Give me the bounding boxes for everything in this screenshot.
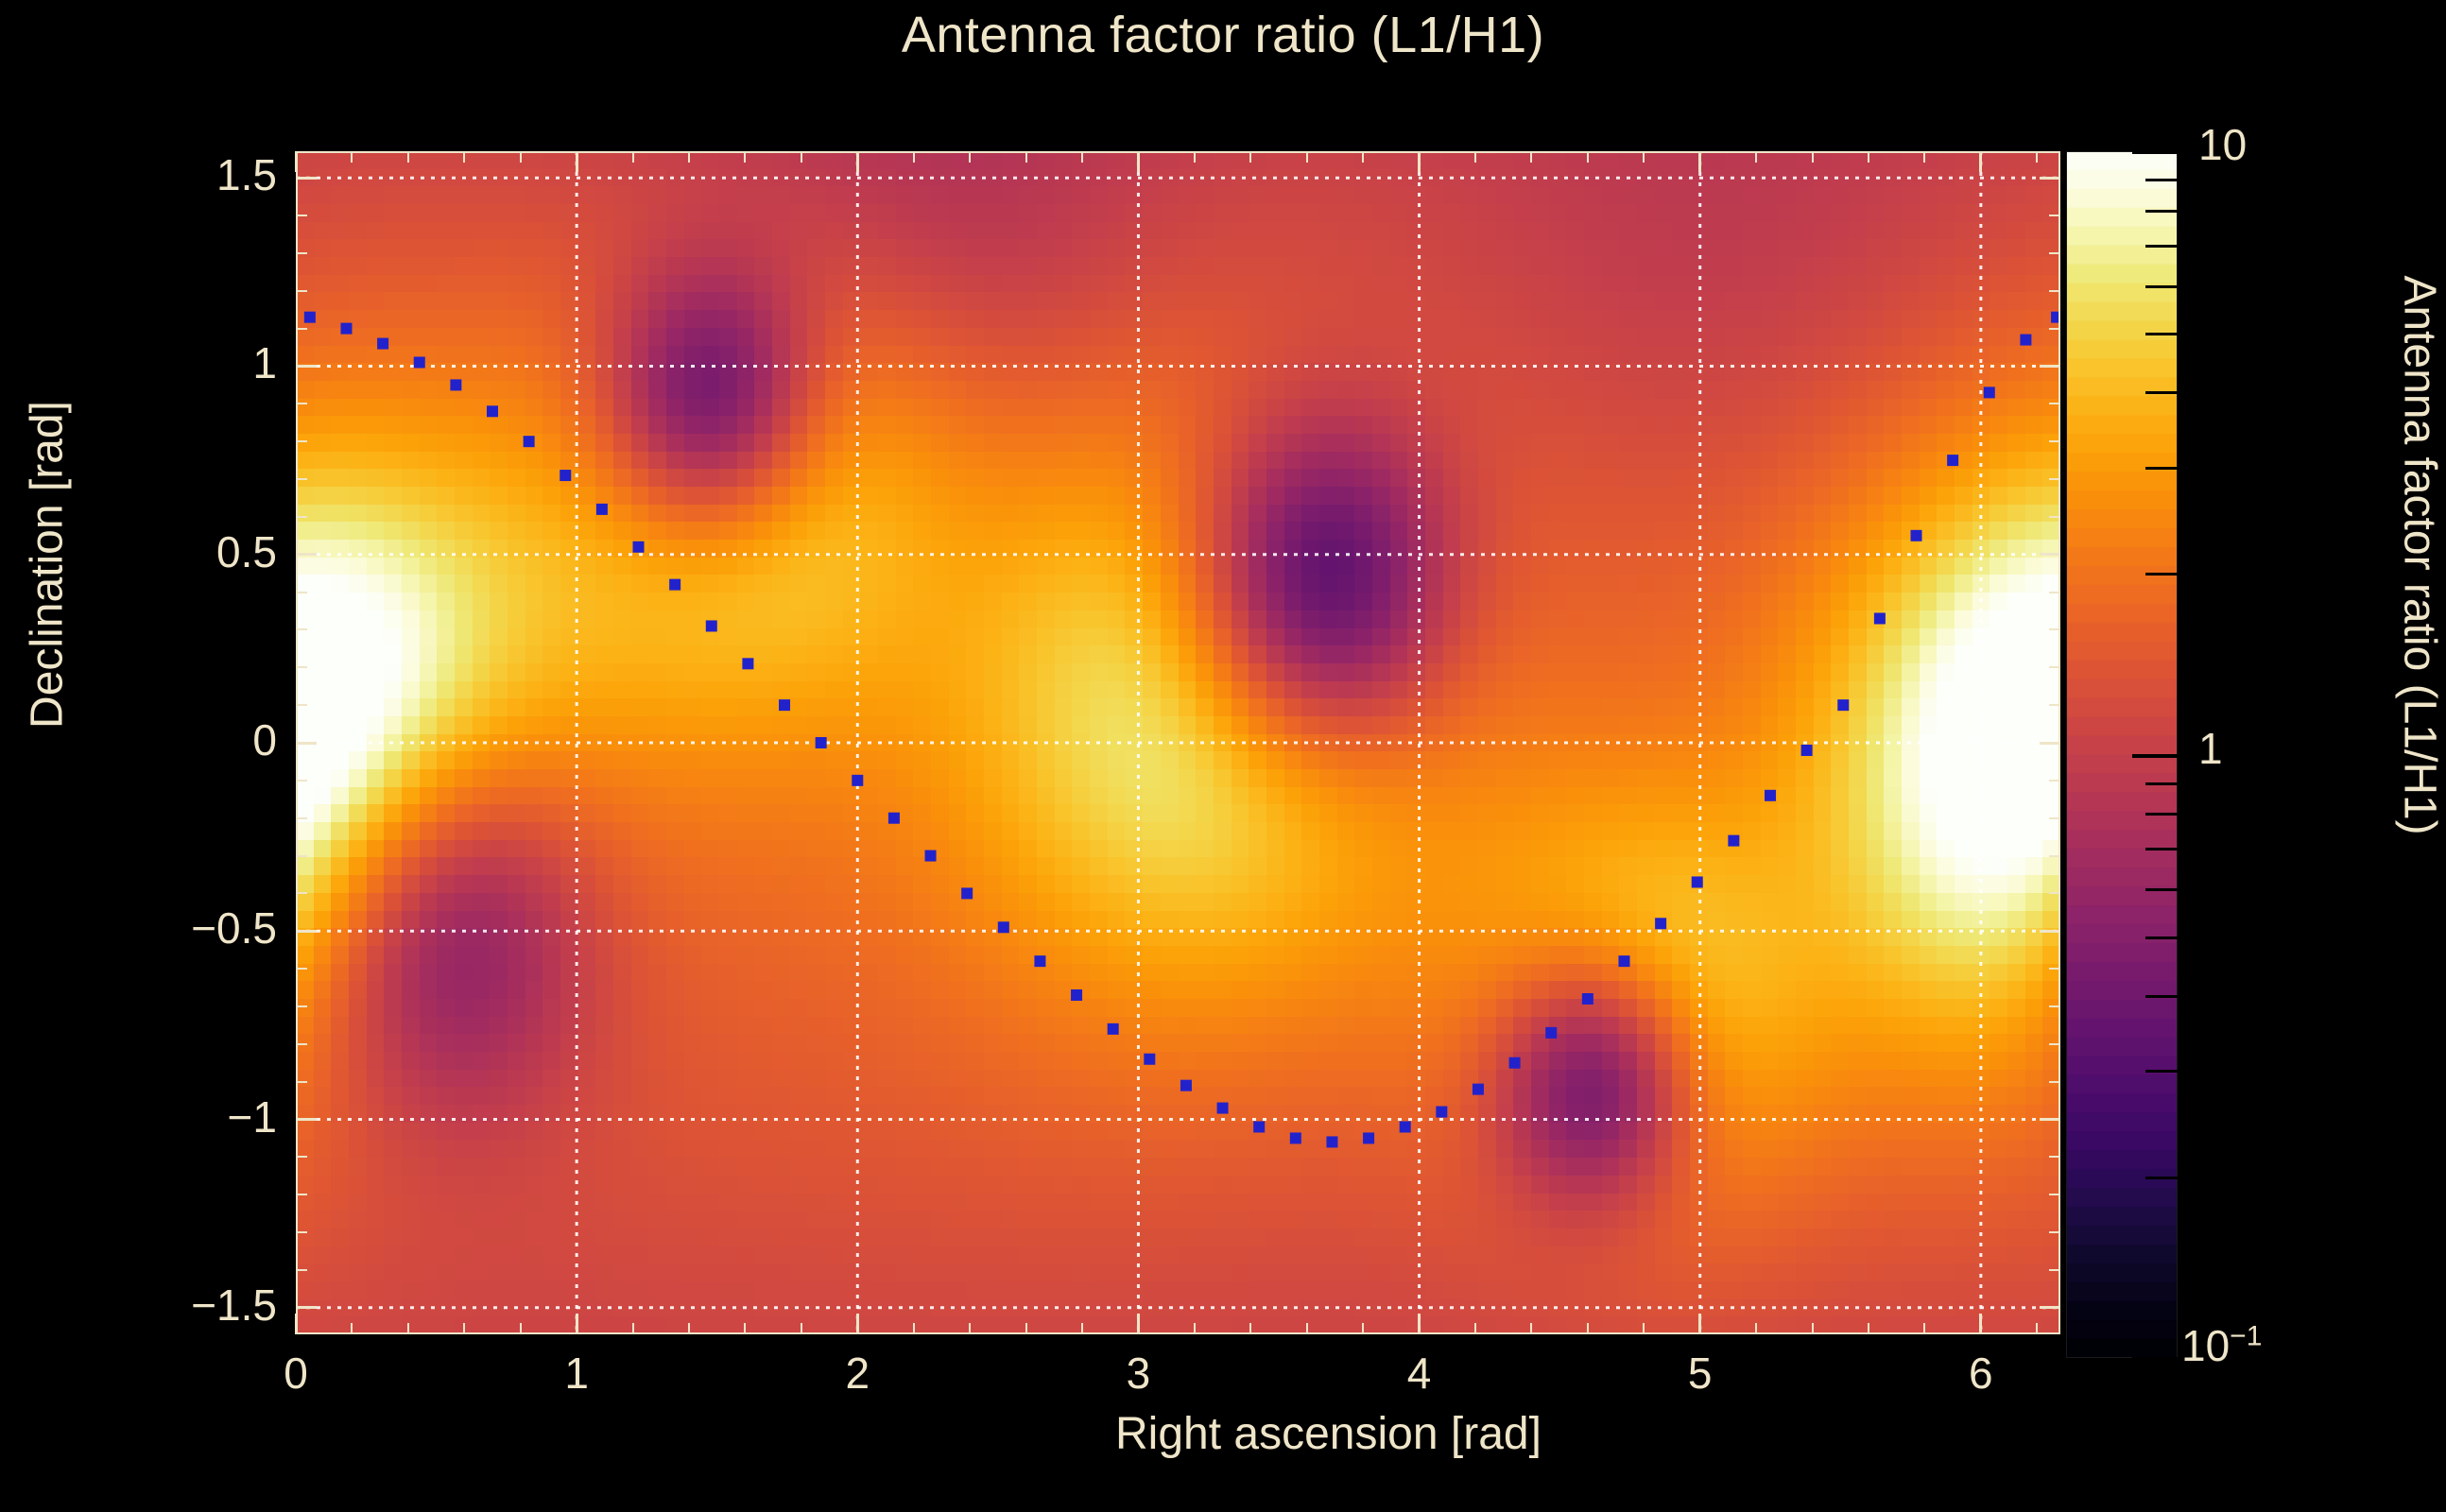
y-minor-tick xyxy=(296,628,307,630)
x-major-tick xyxy=(576,1314,578,1334)
x-minor-tick-top xyxy=(1587,151,1589,163)
colorbar-minor-tick xyxy=(2145,391,2178,394)
x-tick-label: 3 xyxy=(1081,1348,1195,1399)
x-tick-label: 1 xyxy=(520,1348,633,1399)
y-minor-tick-right xyxy=(2049,1081,2060,1083)
x-minor-tick-top xyxy=(688,151,690,163)
x-minor-tick-top xyxy=(1194,151,1196,163)
y-minor-tick xyxy=(296,892,307,894)
x-minor-tick xyxy=(969,1323,971,1334)
y-minor-tick-right xyxy=(2049,704,2060,706)
x-tick-label: 4 xyxy=(1363,1348,1476,1399)
chart-root: Antenna factor ratio (L1/H1) 01234561.51… xyxy=(0,0,2446,1512)
x-minor-tick xyxy=(1081,1323,1083,1334)
y-major-tick-right xyxy=(2040,1118,2060,1121)
y-minor-tick xyxy=(296,1194,307,1195)
x-minor-tick-top xyxy=(520,151,522,163)
y-minor-tick-right xyxy=(2049,1005,2060,1007)
x-minor-tick xyxy=(1474,1323,1476,1334)
colorbar-minor-tick xyxy=(2145,333,2178,335)
y-minor-tick xyxy=(296,1269,307,1271)
x-minor-tick-top xyxy=(1643,151,1645,163)
y-tick-label: −1.5 xyxy=(12,1280,277,1331)
y-minor-tick-right xyxy=(2049,1043,2060,1045)
y-tick-label: −0.5 xyxy=(12,902,277,954)
x-minor-tick xyxy=(744,1323,746,1334)
y-major-tick xyxy=(296,742,317,745)
y-minor-tick-right xyxy=(2049,592,2060,593)
y-minor-tick xyxy=(296,968,307,970)
x-minor-tick-top xyxy=(801,151,802,163)
x-minor-tick-top xyxy=(1923,151,1925,163)
y-minor-tick-right xyxy=(2049,892,2060,894)
colorbar-major-tick xyxy=(2132,150,2178,154)
x-minor-tick xyxy=(1923,1323,1925,1334)
heatmap-plot-area[interactable] xyxy=(296,151,2060,1334)
colorbar-tick-label-mid: 1 xyxy=(2198,723,2223,774)
x-minor-tick xyxy=(520,1323,522,1334)
x-minor-tick xyxy=(407,1323,409,1334)
x-minor-tick-top xyxy=(632,151,634,163)
x-minor-tick-top xyxy=(351,151,353,163)
colorbar-minor-tick xyxy=(2145,813,2178,816)
colorbar-minor-tick xyxy=(2145,285,2178,288)
y-minor-tick xyxy=(296,516,307,518)
colorbar-minor-tick xyxy=(2145,888,2178,891)
y-minor-tick xyxy=(296,1005,307,1007)
y-minor-tick xyxy=(296,328,307,330)
y-minor-tick xyxy=(296,855,307,857)
x-tick-label: 0 xyxy=(239,1348,353,1399)
x-minor-tick xyxy=(1362,1323,1364,1334)
y-minor-tick-right xyxy=(2049,252,2060,254)
x-minor-tick xyxy=(1755,1323,1757,1334)
y-minor-tick-right xyxy=(2049,290,2060,292)
galactic-plane-overlay xyxy=(296,151,2060,1334)
y-minor-tick xyxy=(296,1156,307,1158)
x-minor-tick xyxy=(1643,1323,1645,1334)
y-minor-tick xyxy=(296,592,307,593)
x-minor-tick-top xyxy=(463,151,465,163)
x-minor-tick-top xyxy=(1362,151,1364,163)
y-major-tick-right xyxy=(2040,1306,2060,1309)
y-major-tick-right xyxy=(2040,365,2060,368)
x-minor-tick-top xyxy=(1025,151,1027,163)
y-minor-tick-right xyxy=(2049,628,2060,630)
colorbar-minor-tick xyxy=(2145,573,2178,576)
y-minor-tick xyxy=(296,252,307,254)
y-minor-tick-right xyxy=(2049,215,2060,216)
x-minor-tick-top xyxy=(1474,151,1476,163)
colorbar-minor-tick xyxy=(2145,467,2178,470)
x-minor-tick xyxy=(632,1323,634,1334)
y-minor-tick xyxy=(296,440,307,442)
x-minor-tick xyxy=(463,1323,465,1334)
x-minor-tick-top xyxy=(1812,151,1814,163)
x-minor-tick xyxy=(2036,1323,2038,1334)
y-minor-tick-right xyxy=(2049,403,2060,404)
y-minor-tick-right xyxy=(2049,478,2060,480)
y-minor-tick xyxy=(296,780,307,782)
y-minor-tick xyxy=(296,704,307,706)
x-major-tick-top xyxy=(856,151,859,172)
x-major-tick-top xyxy=(295,151,298,172)
x-minor-tick-top xyxy=(1081,151,1083,163)
x-minor-tick-top xyxy=(1249,151,1251,163)
y-minor-tick-right xyxy=(2049,817,2060,819)
y-major-tick xyxy=(296,1306,317,1309)
y-minor-tick-right xyxy=(2049,1269,2060,1271)
x-minor-tick-top xyxy=(913,151,915,163)
x-minor-tick xyxy=(1194,1323,1196,1334)
y-major-tick xyxy=(296,365,317,368)
colorbar-title: Antenna factor ratio (L1/H1) xyxy=(2394,112,2446,1000)
x-minor-tick xyxy=(801,1323,802,1334)
x-major-tick xyxy=(295,1314,298,1334)
x-major-tick-top xyxy=(1137,151,1140,172)
y-minor-tick xyxy=(296,478,307,480)
colorbar-minor-tick xyxy=(2145,210,2178,213)
x-major-tick-top xyxy=(1979,151,1982,172)
x-tick-label: 6 xyxy=(1924,1348,2038,1399)
colorbar-tick-label-max: 10 xyxy=(2198,119,2247,170)
y-minor-tick xyxy=(296,666,307,668)
y-minor-tick-right xyxy=(2049,780,2060,782)
y-major-tick-right xyxy=(2040,742,2060,745)
x-minor-tick-top xyxy=(407,151,409,163)
y-major-tick-right xyxy=(2040,930,2060,933)
colorbar-major-tick xyxy=(2132,754,2178,758)
x-major-tick xyxy=(1418,1314,1421,1334)
x-minor-tick xyxy=(1587,1323,1589,1334)
y-minor-tick xyxy=(296,1081,307,1083)
y-minor-tick xyxy=(296,403,307,404)
y-minor-tick-right xyxy=(2049,968,2060,970)
x-minor-tick-top xyxy=(2036,151,2038,163)
x-major-tick-top xyxy=(1418,151,1421,172)
x-tick-label: 5 xyxy=(1644,1348,1757,1399)
y-major-tick xyxy=(296,177,317,180)
x-minor-tick xyxy=(1306,1323,1308,1334)
colorbar-minor-tick xyxy=(2145,936,2178,939)
y-minor-tick xyxy=(296,290,307,292)
y-minor-tick xyxy=(296,1231,307,1233)
y-tick-label: 1.5 xyxy=(12,149,277,200)
y-minor-tick-right xyxy=(2049,1194,2060,1195)
x-minor-tick xyxy=(1868,1323,1869,1334)
x-tick-label: 2 xyxy=(801,1348,914,1399)
y-minor-tick-right xyxy=(2049,328,2060,330)
x-minor-tick-top xyxy=(969,151,971,163)
colorbar-major-tick xyxy=(2132,1357,2178,1361)
y-minor-tick-right xyxy=(2049,666,2060,668)
colorbar-minor-tick xyxy=(2145,848,2178,850)
colorbar-minor-tick xyxy=(2145,782,2178,785)
y-minor-tick-right xyxy=(2049,440,2060,442)
x-minor-tick xyxy=(1025,1323,1027,1334)
x-major-tick-top xyxy=(1698,151,1701,172)
x-minor-tick xyxy=(1249,1323,1251,1334)
chart-title: Antenna factor ratio (L1/H1) xyxy=(0,6,2446,64)
x-minor-tick xyxy=(913,1323,915,1334)
y-tick-label: −1 xyxy=(12,1091,277,1143)
y-major-tick xyxy=(296,930,317,933)
x-major-tick xyxy=(856,1314,859,1334)
colorbar-tick-label-min: 10−1 xyxy=(2181,1320,2262,1371)
x-minor-tick xyxy=(688,1323,690,1334)
y-minor-tick-right xyxy=(2049,1231,2060,1233)
colorbar-minor-tick xyxy=(2145,1070,2178,1073)
y-minor-tick xyxy=(296,817,307,819)
colorbar-minor-tick xyxy=(2145,179,2178,181)
x-major-tick xyxy=(1698,1314,1701,1334)
x-major-tick xyxy=(1979,1314,1982,1334)
x-minor-tick-top xyxy=(1530,151,1532,163)
y-major-tick xyxy=(296,553,317,556)
y-minor-tick xyxy=(296,215,307,216)
y-major-tick-right xyxy=(2040,177,2060,180)
colorbar-minor-tick xyxy=(2145,995,2178,998)
x-major-tick xyxy=(1137,1314,1140,1334)
x-minor-tick-top xyxy=(1755,151,1757,163)
x-minor-tick xyxy=(351,1323,353,1334)
x-minor-tick-top xyxy=(744,151,746,163)
x-minor-tick-top xyxy=(1306,151,1308,163)
y-axis-title: Declination [rad] xyxy=(22,272,74,858)
x-axis-title: Right ascension [rad] xyxy=(1115,1408,1542,1460)
x-minor-tick-top xyxy=(1868,151,1869,163)
y-major-tick xyxy=(296,1118,317,1121)
colorbar-minor-tick xyxy=(2145,245,2178,248)
colorbar-minor-tick xyxy=(2145,1177,2178,1179)
y-minor-tick-right xyxy=(2049,516,2060,518)
x-minor-tick xyxy=(1530,1323,1532,1334)
y-minor-tick-right xyxy=(2049,1156,2060,1158)
x-minor-tick xyxy=(1812,1323,1814,1334)
y-minor-tick xyxy=(296,1043,307,1045)
y-major-tick-right xyxy=(2040,553,2060,556)
y-minor-tick-right xyxy=(2049,855,2060,857)
x-major-tick-top xyxy=(576,151,578,172)
